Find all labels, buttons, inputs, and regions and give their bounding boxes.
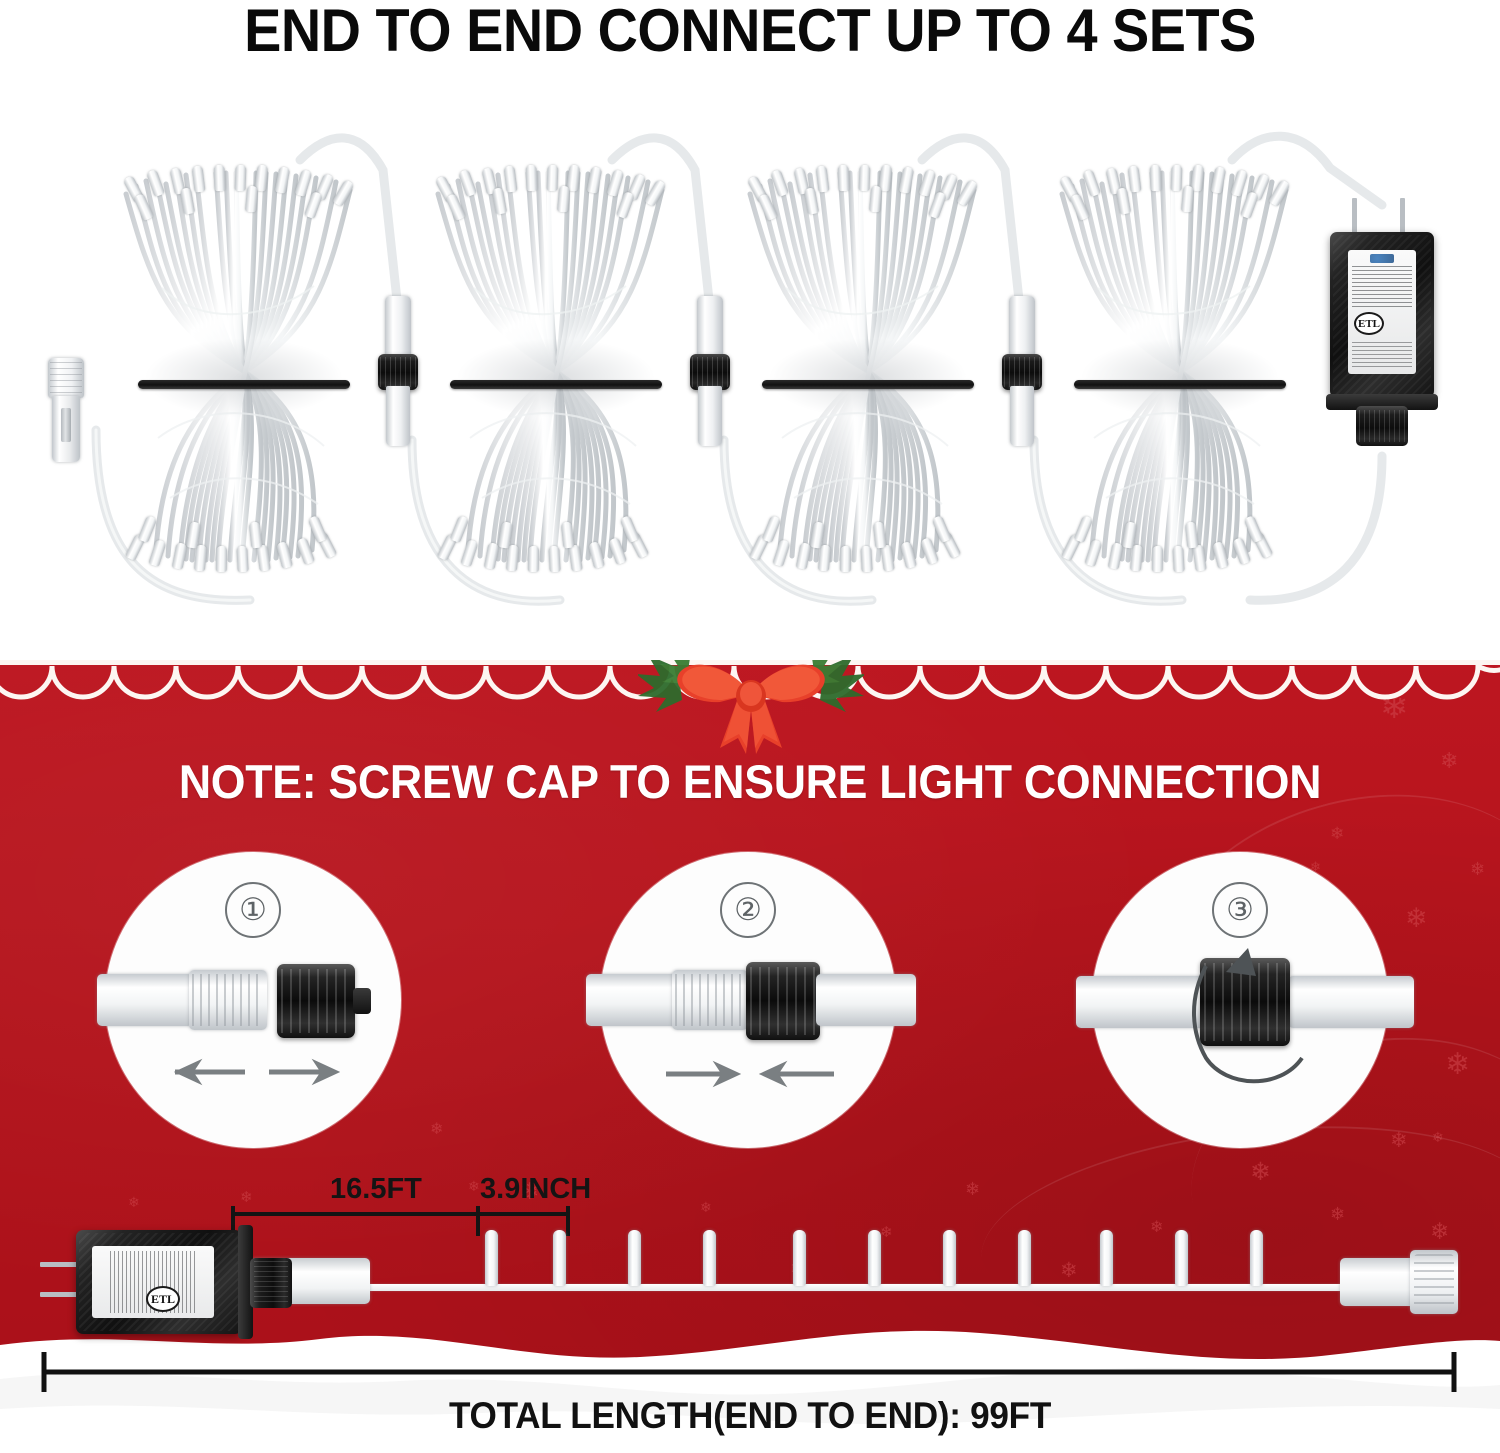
product-infographic: END TO END CONNECT UP TO 4 SETS — [0, 0, 1500, 1453]
coil-bulbs-top — [122, 168, 367, 222]
instructions-section: ❄ ❄ ❄ ❄ ❄ ❄ ❄ ❄ ❄ ❄ ❄ ❄ ❄ ❄ ❄ ❄ ❄ ❄ ❄ ❄ … — [0, 660, 1500, 1453]
screw-cap — [1356, 406, 1408, 446]
bundle-tie-band — [138, 380, 350, 389]
inline-screw-connector — [378, 296, 418, 446]
coil-bulbs-bottom — [434, 512, 679, 572]
bundle-tie-band — [1074, 380, 1286, 389]
total-length-label: TOTAL LENGTH(END TO END): 99FT — [38, 1395, 1463, 1437]
screw-cap — [250, 1258, 292, 1308]
coiled-led-string-bundle — [434, 168, 679, 568]
brand-logo-icon — [1370, 254, 1394, 263]
coiled-led-string-bundle — [746, 168, 991, 568]
coiled-led-string-bundle — [122, 168, 367, 568]
coil-bulbs-top — [434, 168, 679, 222]
top-product-section: END TO END CONNECT UP TO 4 SETS — [0, 0, 1500, 660]
coil-bulbs-bottom — [122, 512, 367, 572]
certification-label: ETL — [92, 1246, 214, 1318]
inline-screw-connector — [690, 296, 730, 446]
etl-mark-icon: ETL — [1354, 312, 1384, 335]
coil-bulbs-top — [1058, 168, 1303, 222]
coiled-led-string-bundle — [1058, 168, 1303, 568]
certification-label: ETL — [1348, 250, 1416, 374]
etl-mark-icon: ETL — [146, 1286, 180, 1312]
coil-bulbs-bottom — [746, 512, 991, 572]
coil-bulbs-bottom — [1058, 512, 1303, 572]
inline-screw-connector — [1002, 296, 1042, 446]
bundle-tie-band — [762, 380, 974, 389]
coil-bulbs-top — [746, 168, 991, 222]
female-end-connector — [48, 358, 84, 462]
total-length-bracket — [40, 1350, 1460, 1396]
bundle-tie-band — [450, 380, 662, 389]
